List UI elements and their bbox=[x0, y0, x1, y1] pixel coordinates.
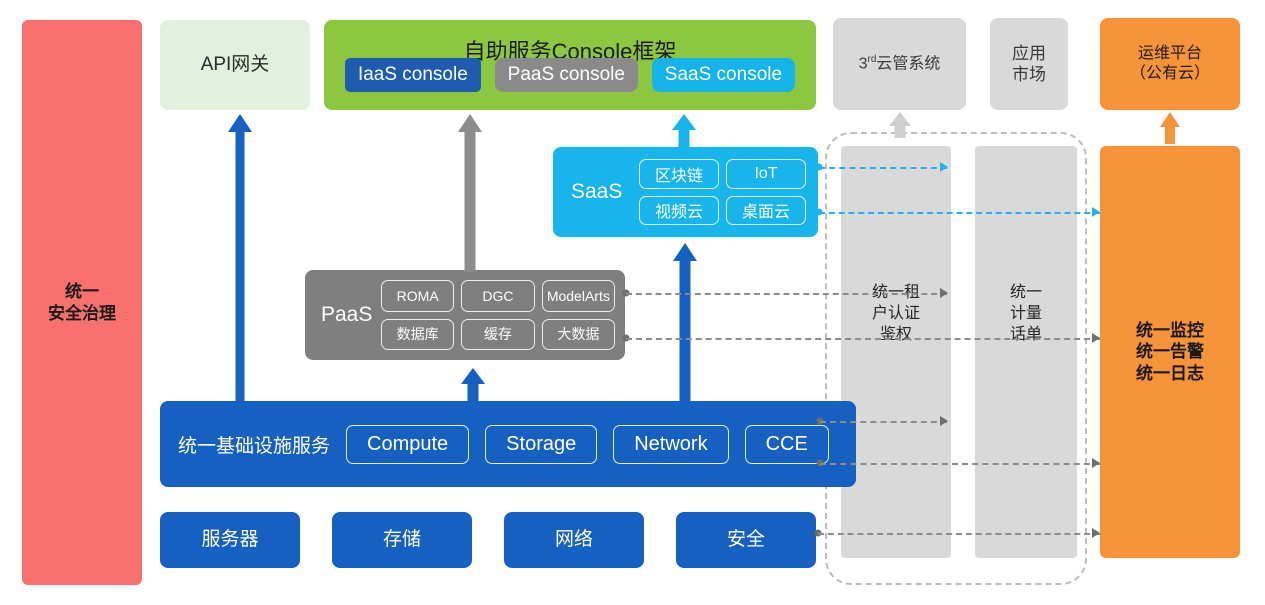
paas-chip-bigdata[interactable]: 大数据 bbox=[542, 319, 615, 351]
connector-paas-to-ops bbox=[626, 338, 1100, 340]
connector-saas-to-tenant-auth bbox=[819, 167, 947, 169]
self-service-console-framework: 自助服务Console框架 IaaS console PaaS console … bbox=[324, 20, 816, 110]
api-gateway-label: API网关 bbox=[201, 53, 270, 77]
resource-label-server: 服务器 bbox=[201, 528, 258, 552]
infra-chip-network[interactable]: Network bbox=[613, 425, 728, 464]
connector-security-to-ops bbox=[818, 533, 1100, 535]
arrow-ops-column-to-platform bbox=[1158, 112, 1182, 144]
saas-chip-blockchain[interactable]: 区块链 bbox=[639, 159, 719, 189]
saas-chip-grid: 区块链 IoT 视频云 桌面云 bbox=[639, 159, 806, 225]
paas-layer-label: PaaS bbox=[321, 303, 372, 327]
paas-chip-grid: ROMA DGC ModelArts 数据库 缓存 大数据 bbox=[381, 280, 615, 350]
connector-saas-to-ops bbox=[819, 212, 1100, 214]
unified-security-governance-label: 统一安全治理 bbox=[48, 281, 116, 324]
saas-console-badge[interactable]: SaaS console bbox=[652, 58, 795, 92]
unified-security-governance-panel: 统一安全治理 bbox=[22, 20, 142, 585]
console-badge-row: IaaS console PaaS console SaaS console bbox=[324, 58, 816, 92]
unified-infrastructure-bar: 统一基础设施服务 Compute Storage Network CCE bbox=[160, 401, 856, 487]
paas-chip-dgc[interactable]: DGC bbox=[461, 280, 534, 312]
app-market-box: 应用市场 bbox=[990, 18, 1068, 110]
resource-label-storage: 存储 bbox=[383, 528, 421, 552]
arrow-paas-to-console bbox=[458, 114, 482, 272]
connector-arrowhead-paas-ops bbox=[1092, 333, 1100, 343]
resource-label-security: 安全 bbox=[727, 528, 765, 552]
ops-platform-label: 运维平台（公有云） bbox=[1130, 44, 1210, 84]
paas-chip-cache[interactable]: 缓存 bbox=[461, 319, 534, 351]
arrow-infra-to-api-gateway bbox=[228, 114, 252, 402]
saas-chip-desktop-cloud[interactable]: 桌面云 bbox=[726, 196, 806, 226]
connector-paas-to-tenant-auth bbox=[626, 293, 947, 295]
unified-ops-column: 统一监控统一告警统一日志 bbox=[1100, 146, 1240, 558]
infra-chip-cce[interactable]: CCE bbox=[745, 425, 829, 464]
paas-layer-box: PaaS ROMA DGC ModelArts 数据库 缓存 大数据 bbox=[305, 270, 625, 360]
connector-infra-to-tenant-auth bbox=[820, 421, 947, 423]
gray-column-metering bbox=[975, 146, 1077, 558]
saas-layer-box: SaaS 区块链 IoT 视频云 桌面云 bbox=[553, 147, 818, 237]
connector-infra-to-ops bbox=[820, 463, 1100, 465]
third-party-cloud-mgmt-label: 3rd云管系统 bbox=[859, 54, 941, 74]
paas-chip-modelarts[interactable]: ModelArts bbox=[542, 280, 615, 312]
connector-arrowhead-security-ops bbox=[1092, 528, 1100, 538]
infra-chip-storage[interactable]: Storage bbox=[485, 425, 597, 464]
ops-platform-box: 运维平台（公有云） bbox=[1100, 18, 1240, 110]
architecture-diagram: 统一安全治理 API网关 自助服务Console框架 IaaS console … bbox=[0, 0, 1265, 605]
connector-arrowhead-infra-ops bbox=[1092, 458, 1100, 468]
resource-box-server[interactable]: 服务器 bbox=[160, 512, 300, 568]
saas-chip-video-cloud[interactable]: 视频云 bbox=[639, 196, 719, 226]
paas-console-badge[interactable]: PaaS console bbox=[495, 58, 638, 92]
resource-box-security[interactable]: 安全 bbox=[676, 512, 816, 568]
connector-arrowhead-infra-auth bbox=[940, 416, 948, 426]
connector-arrowhead-saas-auth bbox=[940, 162, 948, 172]
saas-chip-iot[interactable]: IoT bbox=[726, 159, 806, 189]
third-party-cloud-mgmt-box: 3rd云管系统 bbox=[833, 18, 966, 110]
arrow-infra-to-saas bbox=[673, 243, 697, 402]
resource-label-network: 网络 bbox=[555, 528, 593, 552]
api-gateway-box: API网关 bbox=[160, 20, 310, 110]
resource-box-network[interactable]: 网络 bbox=[504, 512, 644, 568]
gray-column-tenant-auth bbox=[841, 146, 951, 558]
infra-chip-compute[interactable]: Compute bbox=[346, 425, 469, 464]
arrow-infra-to-paas bbox=[461, 368, 485, 402]
paas-chip-roma[interactable]: ROMA bbox=[381, 280, 454, 312]
app-market-label: 应用市场 bbox=[1012, 43, 1046, 86]
paas-chip-database[interactable]: 数据库 bbox=[381, 319, 454, 351]
saas-layer-label: SaaS bbox=[571, 180, 622, 204]
metering-label: 统一计量话单 bbox=[975, 283, 1077, 345]
resource-box-storage[interactable]: 存储 bbox=[332, 512, 472, 568]
arrow-saas-to-console bbox=[672, 114, 696, 150]
unified-infrastructure-label: 统一基础设施服务 bbox=[178, 431, 330, 458]
iaas-console-badge[interactable]: IaaS console bbox=[345, 58, 481, 92]
connector-arrowhead-paas-auth bbox=[940, 288, 948, 298]
connector-arrowhead-saas-ops bbox=[1092, 207, 1100, 217]
unified-ops-label: 统一监控统一告警统一日志 bbox=[1136, 320, 1204, 384]
arrow-shared-to-third-party bbox=[888, 112, 912, 138]
